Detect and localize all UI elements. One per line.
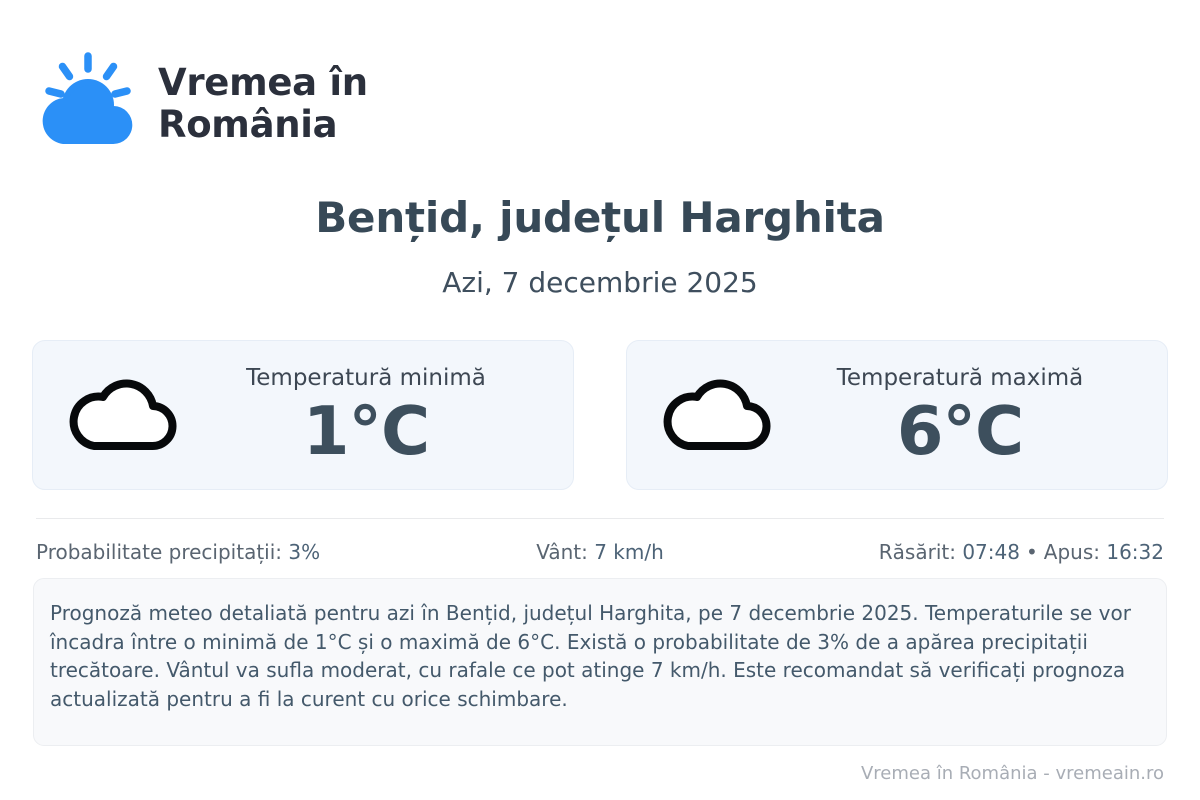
- brand-logo[interactable]: Vremea în România: [36, 52, 368, 156]
- sunrise-label: Răsărit:: [879, 540, 963, 564]
- precipitation-value: 3%: [288, 540, 320, 564]
- footer-credit: Vremea în România - vremeain.ro: [861, 762, 1164, 786]
- stats-row: Probabilitate precipitații: 3% Vânt: 7 k…: [36, 538, 1164, 566]
- sun-times-stat: Răsărit: 07:48•Apus: 16:32: [780, 538, 1164, 566]
- min-temperature-body: Temperatură minimă 1°C: [185, 363, 555, 467]
- precipitation-stat: Probabilitate precipitații: 3%: [36, 538, 420, 566]
- forecast-description-text: Prognoză meteo detaliată pentru azi în B…: [50, 599, 1140, 713]
- max-temperature-body: Temperatură maximă 6°C: [779, 363, 1149, 467]
- separator-bullet: •: [1020, 540, 1044, 564]
- sun-behind-cloud-icon: [36, 52, 140, 156]
- cloud-outline-icon: [63, 372, 185, 458]
- stats-divider: [36, 518, 1164, 519]
- cloud-outline-icon: [657, 372, 779, 458]
- wind-label: Vânt:: [536, 540, 594, 564]
- max-temperature-value: 6°C: [779, 395, 1141, 467]
- temperature-cards: Temperatură minimă 1°C Temperatură maxim…: [32, 340, 1168, 490]
- sunset-value: 16:32: [1106, 540, 1164, 564]
- max-temperature-label: Temperatură maximă: [779, 363, 1141, 393]
- wind-stat: Vânt: 7 km/h: [420, 538, 781, 566]
- sunset-label: Apus:: [1044, 540, 1107, 564]
- wind-value: 7 km/h: [594, 540, 664, 564]
- brand-name: Vremea în România: [158, 62, 368, 146]
- page-subtitle: Azi, 7 decembrie 2025: [0, 264, 1200, 302]
- forecast-description-box: Prognoză meteo detaliată pentru azi în B…: [33, 578, 1167, 746]
- weather-page: Vremea în România Bențid, județul Harghi…: [0, 0, 1200, 800]
- min-temperature-value: 1°C: [185, 395, 547, 467]
- precipitation-label: Probabilitate precipitații:: [36, 540, 288, 564]
- min-temperature-label: Temperatură minimă: [185, 363, 547, 393]
- max-temperature-card: Temperatură maximă 6°C: [626, 340, 1168, 490]
- sunrise-value: 07:48: [962, 540, 1020, 564]
- min-temperature-card: Temperatură minimă 1°C: [32, 340, 574, 490]
- page-title: Bențid, județul Harghita: [0, 192, 1200, 244]
